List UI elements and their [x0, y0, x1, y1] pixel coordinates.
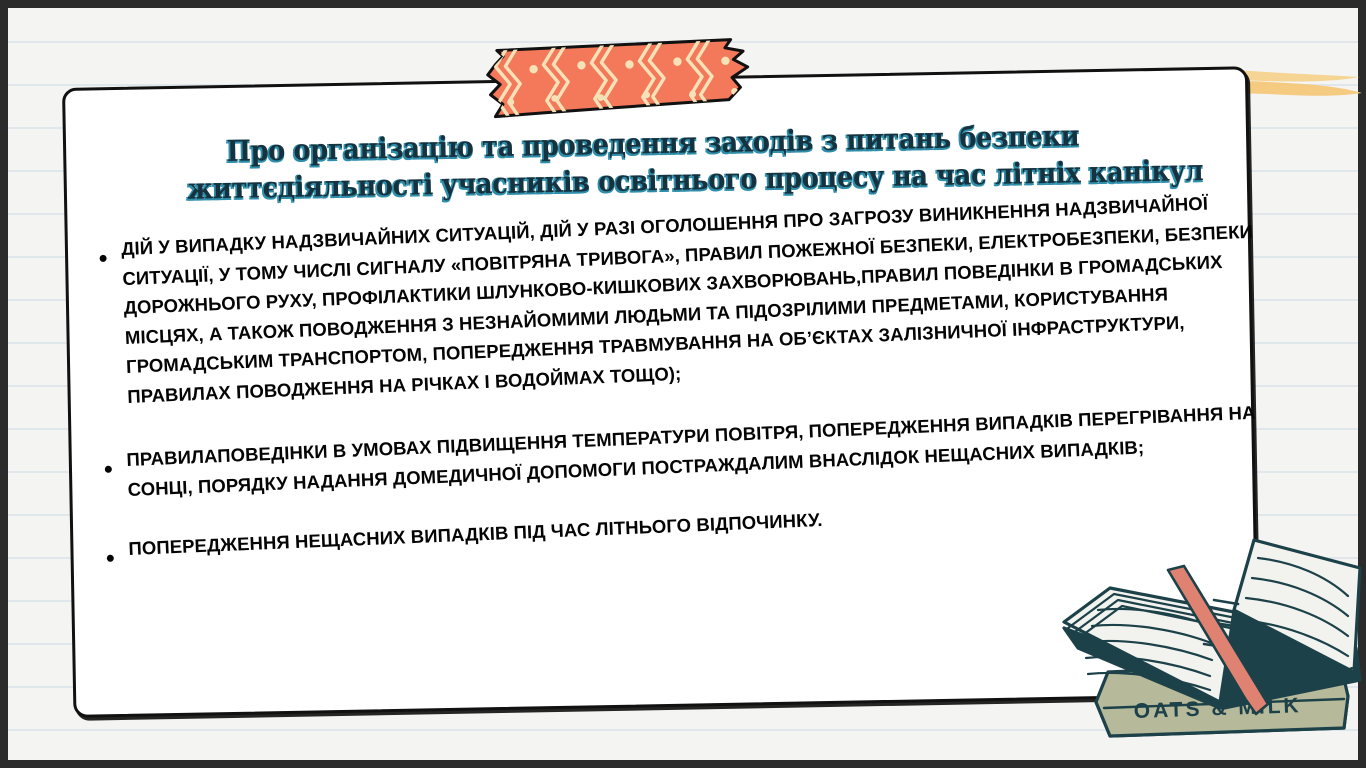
- open-book-illustration-icon: OATS & MILK: [1048, 522, 1366, 760]
- list-item: ПРАВИЛАПОВЕДІНКИ В УМОВАХ ПІДВИЩЕННЯ ТЕМ…: [90, 398, 1261, 506]
- slide-canvas: Про організацію та проведення заходів з …: [0, 0, 1366, 768]
- bullet-dot-icon: [105, 466, 112, 473]
- washi-tape-icon: [481, 37, 752, 119]
- bullet-dot-icon: [99, 255, 106, 262]
- list-item-text: ПРАВИЛАПОВЕДІНКИ В УМОВАХ ПІДВИЩЕННЯ ТЕМ…: [126, 398, 1261, 504]
- bullet-list: ДІЙ У ВИПАДКУ НАДЗВИЧАЙНИХ СИТУАЦІЙ, ДІЙ…: [87, 214, 1263, 565]
- bullet-dot-icon: [107, 555, 114, 562]
